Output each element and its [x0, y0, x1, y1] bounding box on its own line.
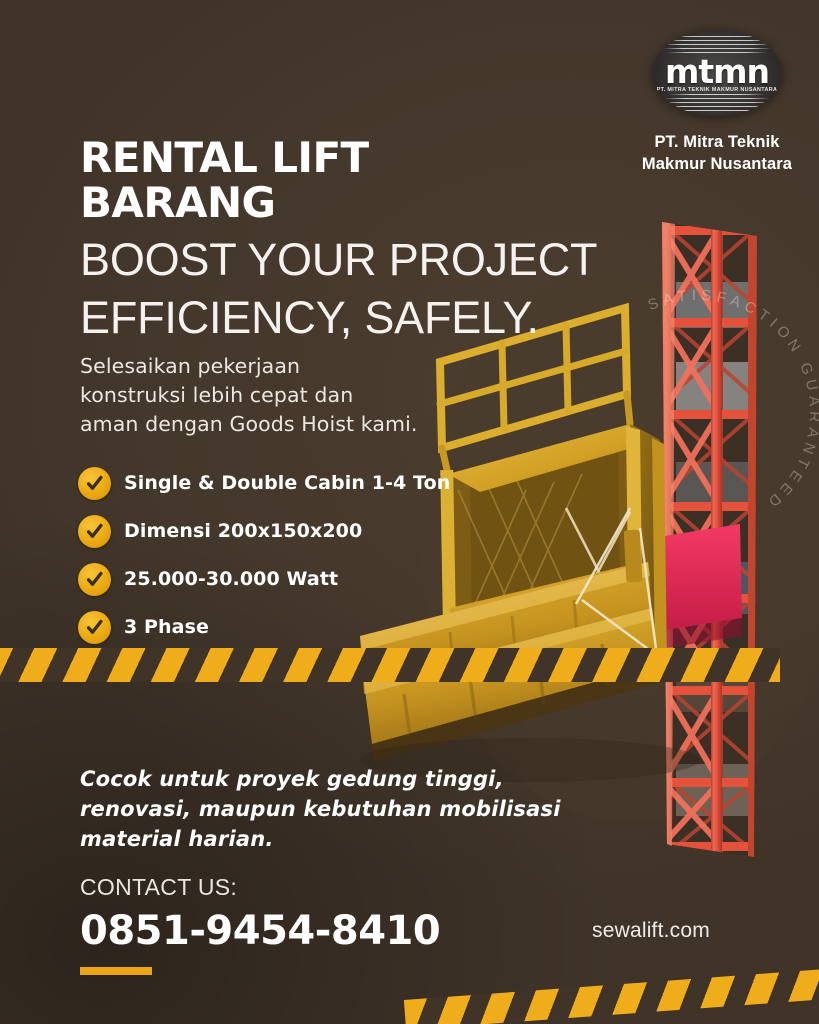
lead-paragraph: Selesaikan pekerjaan konstruksi lebih ce… [80, 352, 430, 439]
feature-item: 25.000-30.000 Watt [78, 555, 450, 603]
headline-light-line1: BOOST YOUR PROJECT [80, 236, 680, 285]
feature-label: 25.000-30.000 Watt [124, 568, 338, 590]
feature-list: Single & Double Cabin 1-4 Ton Dimensi 20… [78, 459, 450, 651]
callout-line3: material harian. [80, 825, 570, 855]
feature-label: 3 Phase [124, 616, 209, 638]
headline-bold-line1: RENTAL LIFT [80, 136, 680, 181]
check-icon [78, 515, 111, 548]
contact-phone-number[interactable]: 0851-9454-8410 [80, 911, 440, 951]
hazard-stripe-bottom [404, 966, 819, 1024]
feature-item: Dimensi 200x150x200 [78, 507, 450, 555]
check-icon [78, 563, 111, 596]
callout-line2: renovasi, maupun kebutuhan mobilisasi [80, 795, 570, 825]
headline-light-line2: EFFICIENCY, SAFELY. [80, 294, 680, 343]
mtmn-logo-badge: mtmn PT. MITRA TEKNIK MAKMUR NUSANTARA [652, 30, 782, 116]
callout-text: Cocok untuk proyek gedung tinggi, renova… [80, 765, 570, 854]
accent-rule [80, 967, 152, 975]
contact-block: CONTACT US: 0851-9454-8410 [80, 874, 440, 975]
logo-wordmark: mtmn [652, 55, 782, 88]
headline-bold-line2: BARANG [80, 181, 680, 226]
check-icon [78, 611, 111, 644]
check-icon [78, 467, 111, 500]
lead-line3: aman dengan Goods Hoist kami. [80, 410, 430, 439]
headline-block: RENTAL LIFT BARANG BOOST YOUR PROJECT EF… [80, 136, 680, 343]
lead-line1: Selesaikan pekerjaan [80, 352, 430, 381]
contact-us-label: CONTACT US: [80, 874, 440, 901]
feature-item: 3 Phase [78, 603, 450, 651]
logo-wave-bottom-icon [663, 94, 771, 112]
feature-label: Dimensi 200x150x200 [124, 520, 362, 542]
logo-subtext: PT. MITRA TEKNIK MAKMUR NUSANTARA [652, 87, 782, 93]
callout-line1: Cocok untuk proyek gedung tinggi, [80, 765, 570, 795]
website-url[interactable]: sewalift.com [592, 919, 710, 943]
poster-canvas: SATISFACTION GUARANTEED mtmn PT. MITRA T… [0, 0, 819, 1024]
hazard-stripe-divider [0, 648, 780, 682]
feature-item: Single & Double Cabin 1-4 Ton [78, 459, 450, 507]
lead-line2: konstruksi lebih cepat dan [80, 381, 430, 410]
feature-label: Single & Double Cabin 1-4 Ton [124, 472, 450, 494]
